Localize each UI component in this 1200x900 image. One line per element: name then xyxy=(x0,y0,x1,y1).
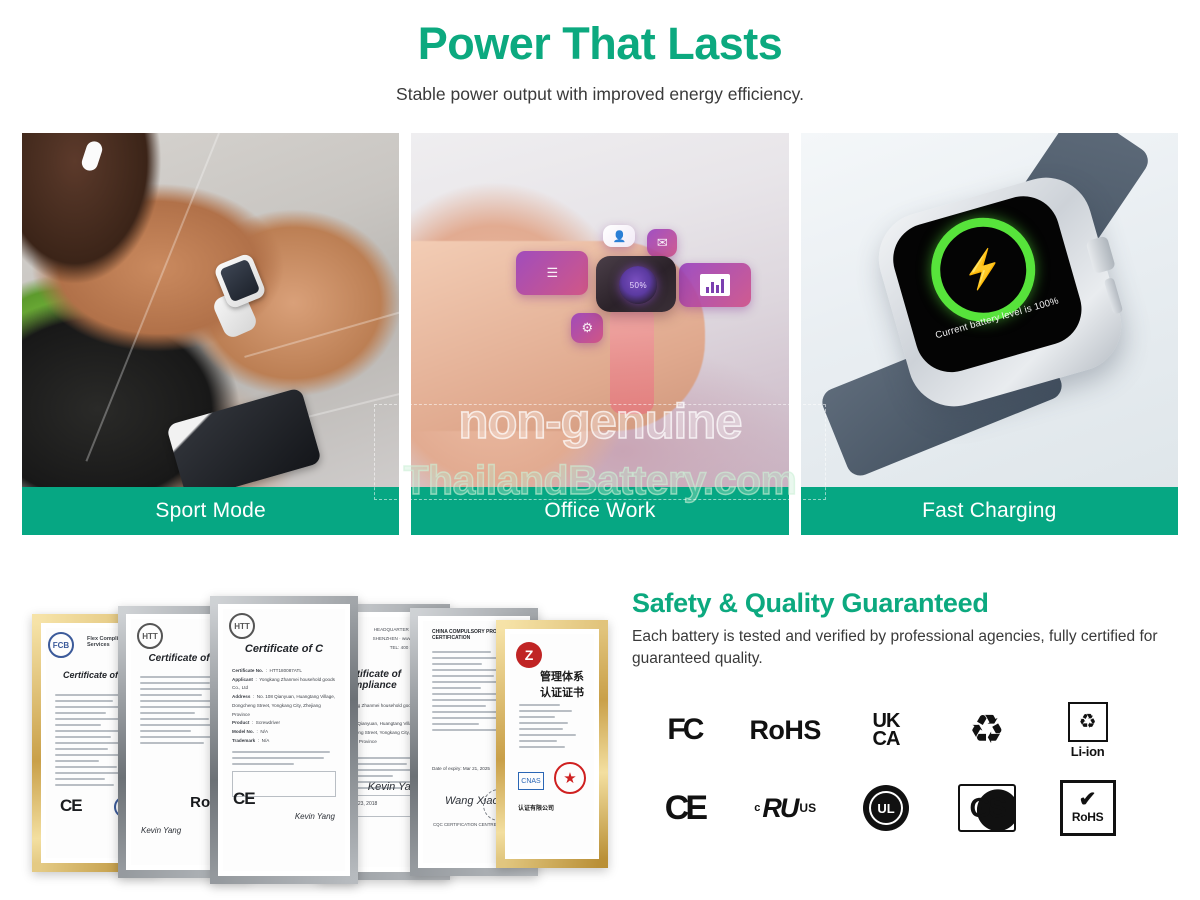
fcb-seal-icon: FCB xyxy=(48,632,74,658)
feature-card-caption: Fast Charging xyxy=(801,487,1178,535)
gs-logo-icon: GS xyxy=(958,784,1016,832)
certificate-heading: 管理体系认证证书 xyxy=(540,668,594,700)
ru-mark-icon: RU xyxy=(762,793,797,824)
quality-title: Safety & Quality Guaranteed xyxy=(632,588,1184,619)
signature: Kevin Yang xyxy=(141,826,181,835)
gs-logo: GS xyxy=(938,772,1035,844)
pavement-line-icon xyxy=(86,133,220,462)
certificate-expiry: Date of expiry: Mar 21, 2025 xyxy=(432,766,490,771)
certificate-org: CQC CERTIFICATION CENTRE xyxy=(433,822,497,827)
ce-mark: CE xyxy=(233,789,255,809)
rohs-check-logo: ✔ RoHS xyxy=(1039,772,1136,844)
recycle-icon: ♻ xyxy=(969,710,1005,750)
cnas-badge-icon: CNAS xyxy=(518,772,544,790)
envelope-icon: ✉ xyxy=(647,229,677,257)
certificate-body: HTT Certificate of C Certificate No. : H… xyxy=(223,609,345,871)
htt-logo-icon: HTT xyxy=(137,623,163,649)
fcc-logo-icon: FC xyxy=(667,713,701,747)
contact-card-icon: 👤 xyxy=(603,225,635,247)
ukca-logo-icon: UK CA xyxy=(873,712,900,749)
li-ion-logo-icon: ♻ Li-ion xyxy=(1068,702,1108,759)
certificate-document: Z 管理体系认证证书 ★ CNAS 认证有限公司 xyxy=(496,620,608,868)
certificate-org: 认证有限公司 xyxy=(518,803,554,812)
ul-logo-icon: UL xyxy=(863,785,909,831)
page-subtitle: Stable power output with improved energy… xyxy=(0,84,1200,105)
ce-mark: CE xyxy=(60,796,82,816)
rohs-check-logo-icon: ✔ RoHS xyxy=(1060,780,1116,836)
ul-label: UL xyxy=(869,791,903,825)
us-suffix-label: US xyxy=(799,801,816,815)
page-header: Power That Lasts Stable power output wit… xyxy=(0,0,1200,105)
rohs-logo: RoHS xyxy=(737,694,834,766)
gear-icon: ⚙ xyxy=(571,313,603,343)
wrist-ui-scene: ☰ ⚙ ✉ 👤 xyxy=(411,133,788,487)
official-red-seal-icon: ★ xyxy=(554,762,586,794)
message-card-icon: ✉ xyxy=(647,229,677,257)
feature-card-caption: Office Work xyxy=(411,487,788,535)
certificate-collage: FCB Flex Compliance Services Certificate… xyxy=(18,586,608,892)
recycle-logo: ♻ xyxy=(938,694,1035,766)
quality-text-block: Safety & Quality Guaranteed Each battery… xyxy=(632,588,1184,671)
recycle-icon: ♻ xyxy=(1068,702,1108,742)
quality-description: Each battery is tested and verified by p… xyxy=(632,626,1184,671)
certificate-body: Z 管理体系认证证书 ★ CNAS 认证有限公司 xyxy=(510,634,594,854)
smartphone xyxy=(166,387,322,487)
sport-mode-photo xyxy=(22,133,399,487)
digital-crown xyxy=(1085,235,1116,274)
person-icon: 👤 xyxy=(603,225,635,247)
li-ion-logo: ♻ Li-ion xyxy=(1039,694,1136,766)
fast-charging-photo: ⚡ Current battery level is 100% xyxy=(801,133,1178,487)
htt-logo-icon: HTT xyxy=(229,613,255,639)
ce-logo-icon: CE xyxy=(665,789,704,828)
earbud-icon xyxy=(80,139,104,172)
c-prefix-label: c xyxy=(754,802,760,814)
certificate-heading: Certificate of C xyxy=(232,643,336,655)
feature-card-sport-mode[interactable]: Sport Mode xyxy=(22,133,399,535)
certificate-product: Screwdriver xyxy=(256,720,280,725)
watch-screen: ⚡ Current battery level is 100% xyxy=(884,188,1089,381)
feature-card-fast-charging[interactable]: ⚡ Current battery level is 100% Fast Cha… xyxy=(801,133,1178,535)
fcc-logo: FC xyxy=(636,694,733,766)
certificate-model: N/A xyxy=(260,729,268,734)
c-ul-us-logo-icon: c RU US xyxy=(754,793,816,824)
certificate-trademark: N/A xyxy=(262,738,270,743)
certificate-text-lines xyxy=(232,751,336,765)
rohs-label: RoHS xyxy=(1072,810,1103,824)
z-badge-icon: Z xyxy=(516,642,542,668)
feature-card-office-work[interactable]: ☰ ⚙ ✉ 👤 xyxy=(411,133,788,535)
pink-watch-strap xyxy=(610,309,654,414)
rohs-logo-icon: RoHS xyxy=(749,715,821,746)
certificate-text-lines xyxy=(519,704,585,748)
li-ion-label: Li-ion xyxy=(1071,744,1105,759)
ce-logo: CE xyxy=(636,772,733,844)
certificate-document: HTT Certificate of C Certificate No. : H… xyxy=(210,596,358,884)
certification-logo-grid: FC RoHS UK CA ♻ ♻ Li-ion xyxy=(636,694,1136,844)
c-ul-us-logo: c RU US xyxy=(737,772,834,844)
pavement-line-icon xyxy=(244,306,399,358)
office-work-photo: ☰ ⚙ ✉ 👤 xyxy=(411,133,788,487)
certificate-number: HTT180087ATL xyxy=(270,668,302,673)
gs-label: GS xyxy=(970,792,1004,824)
feature-card-caption: Sport Mode xyxy=(22,487,399,535)
sliders-icon: ☰ xyxy=(516,251,588,295)
side-button xyxy=(1103,277,1123,314)
certificate-fields: Certificate No. : HTT180087ATL Applicant… xyxy=(232,667,336,745)
certification-section: FCB Flex Compliance Services Certificate… xyxy=(0,576,1200,900)
charging-watch-scene: ⚡ Current battery level is 100% xyxy=(801,133,1178,487)
checkmark-icon: ✔ xyxy=(1079,792,1097,809)
signature: Kevin Yang xyxy=(295,812,335,821)
bar-chart-icon xyxy=(700,274,730,296)
marketing-page: Power That Lasts Stable power output wit… xyxy=(0,0,1200,900)
ul-registered-logo: UL xyxy=(838,772,935,844)
ukca-bottom-label: CA xyxy=(873,728,900,750)
chart-card-icon xyxy=(679,263,751,307)
runner-scene xyxy=(22,133,399,487)
slider-card-icon: ☰ xyxy=(516,251,588,295)
page-title: Power That Lasts xyxy=(0,18,1200,70)
ukca-logo: UK CA xyxy=(838,694,935,766)
feature-card-list: Sport Mode ☰ ⚙ xyxy=(22,133,1178,535)
settings-card-icon: ⚙ xyxy=(571,313,603,343)
